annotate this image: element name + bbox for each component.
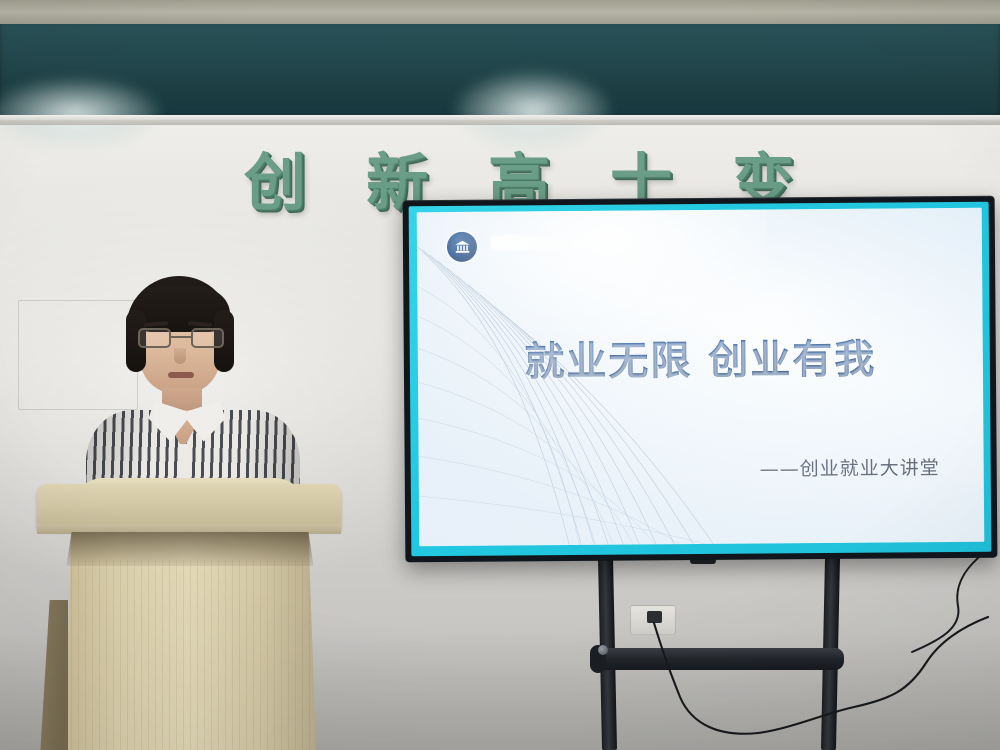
wall-outlet	[630, 605, 676, 635]
eyeglass-lens-left	[138, 328, 171, 348]
wall-display[interactable]: 就业无限 创业有我 ——创业就业大讲堂	[403, 196, 998, 563]
eyeglass-bridge	[171, 336, 191, 338]
stand-adjust-knob	[598, 645, 608, 655]
slide-title: 就业无限 创业有我	[418, 326, 983, 388]
podium-wood-grain	[64, 560, 316, 750]
photo-scene: 创 新 高 士 变	[0, 0, 1000, 750]
stand-crossbar-shelf	[594, 648, 844, 670]
eyeglass-lens-right	[191, 328, 224, 348]
presenter-mouth	[168, 372, 194, 378]
screen-glare-overlay	[417, 209, 768, 345]
eyeglasses-icon	[136, 328, 226, 348]
slide-swoosh-decoration	[417, 244, 749, 547]
wall-seam	[0, 115, 1000, 120]
power-plug-icon	[647, 611, 662, 623]
presenter-nose	[174, 348, 186, 364]
slide-subtitle: ——创业就业大讲堂	[760, 453, 940, 481]
chalkboard-glare-center	[455, 72, 610, 150]
chalkboard-band	[0, 24, 1000, 120]
display-screen[interactable]: 就业无限 创业有我 ——创业就业大讲堂	[417, 208, 985, 546]
institution-emblem-icon	[447, 232, 477, 262]
slide-logo-caption	[491, 235, 609, 251]
wall-slogan-char-1: 创	[244, 152, 306, 214]
